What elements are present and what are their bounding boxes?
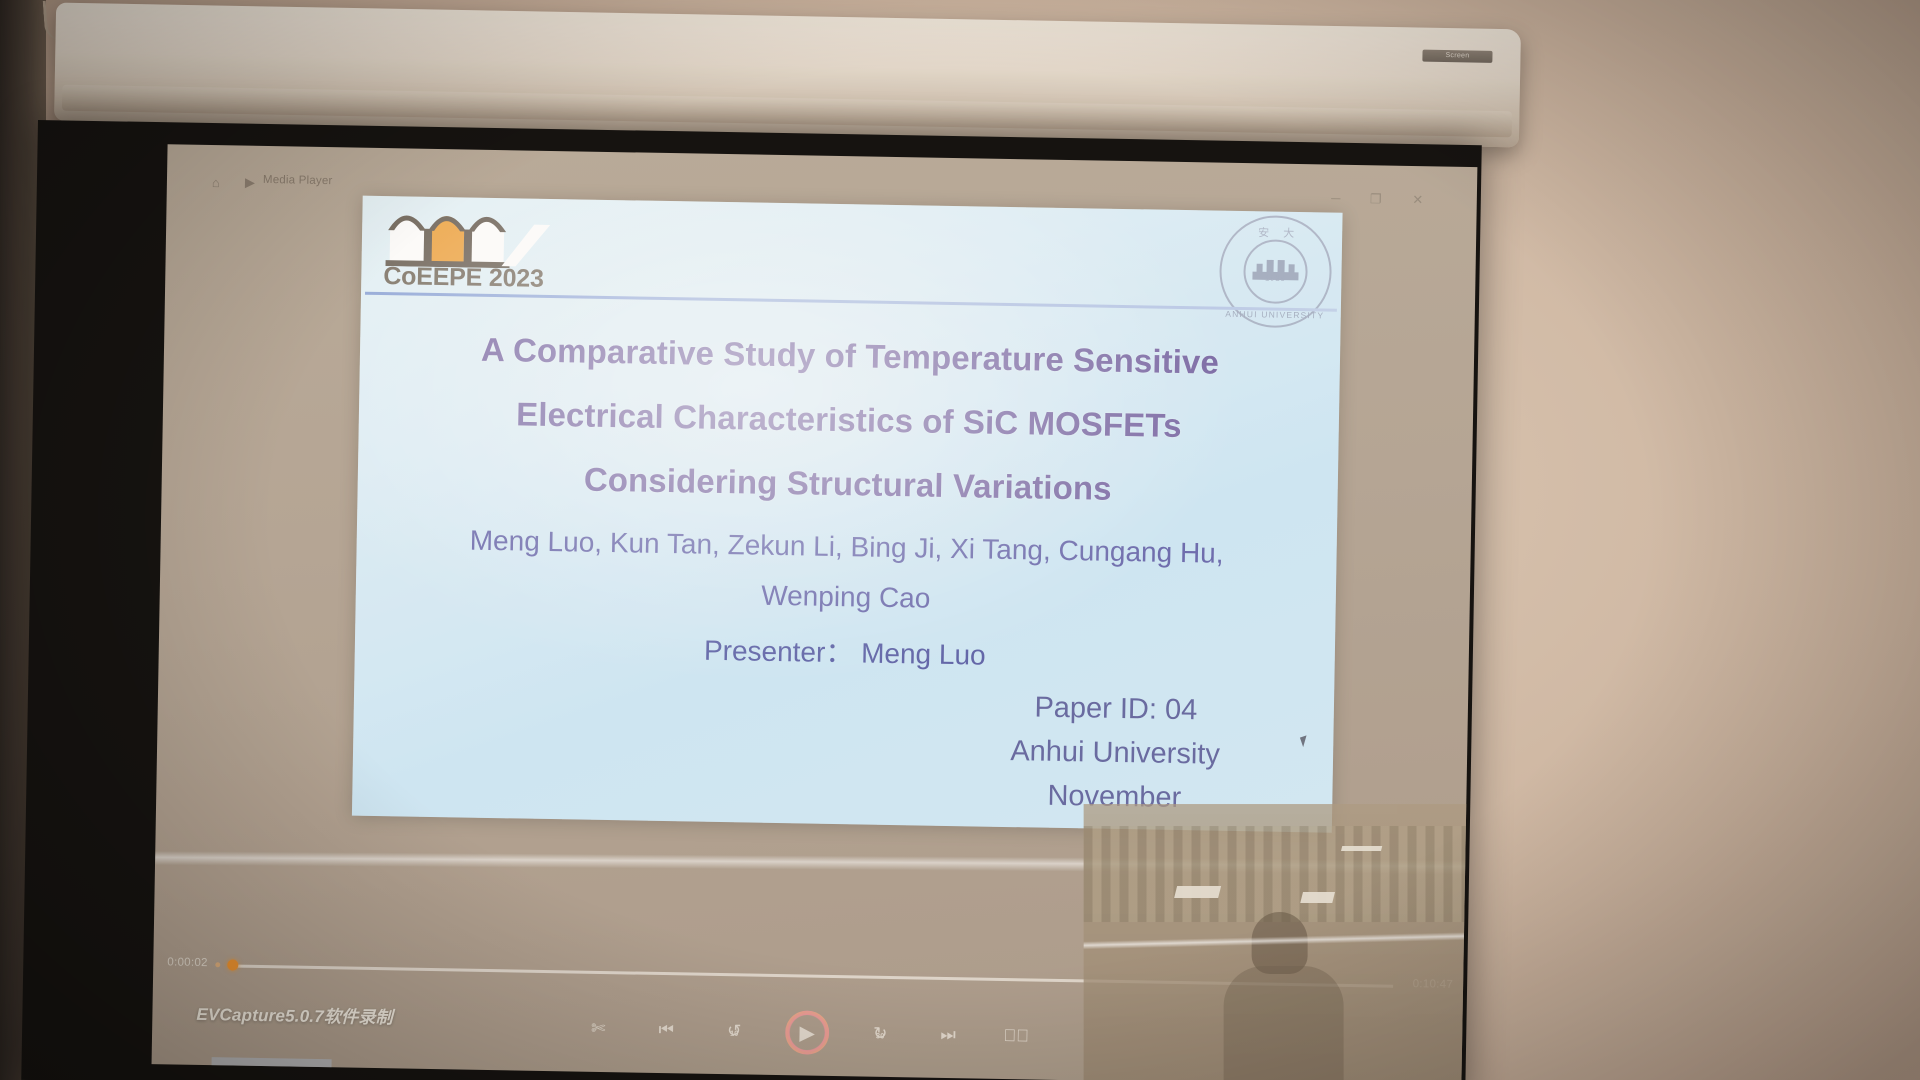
- presentation-slide: CoEEPE 2023 安大 1928 ANHUI UNIVERSITY A C…: [352, 196, 1343, 833]
- rewind-10-icon[interactable]: ↺10: [717, 1014, 752, 1049]
- footer-affiliation: Anhui University: [905, 727, 1326, 778]
- overlay-blinds: [1084, 826, 1478, 922]
- slide-title: A Comparative Study of Temperature Sensi…: [397, 316, 1300, 524]
- forward-amount: 30: [876, 1031, 884, 1040]
- screen-recorder-watermark: EVCapture5.0.7软件录制: [196, 1000, 393, 1028]
- overlay-paper: [1341, 846, 1382, 851]
- overlay-person-body: [1224, 966, 1344, 1080]
- webcam-overlay[interactable]: ⛶ ☷ ⬌ 🔊: [1084, 804, 1478, 1080]
- next-icon[interactable]: ⏭: [931, 1018, 966, 1053]
- header-divider: [365, 292, 1337, 312]
- roller-brand-badge: Screen: [1422, 50, 1492, 63]
- maximize-button[interactable]: ❐: [1361, 189, 1391, 210]
- slide-authors: Meng Luo, Kun Tan, Zekun Li, Bing Ji, Xi…: [384, 514, 1307, 688]
- previous-icon[interactable]: ⏮: [649, 1013, 684, 1048]
- arches-logo-icon: [384, 204, 555, 269]
- overlay-paper: [1300, 892, 1335, 903]
- media-player-window: ⌂ ▶ Media Player ─ ❐ ✕: [152, 144, 1478, 1080]
- anhui-university-seal: 安大 1928 ANHUI UNIVERSITY: [1219, 215, 1333, 329]
- overlay-paper: [1174, 886, 1221, 898]
- home-icon[interactable]: ⌂: [205, 171, 227, 193]
- footer-paper-id: Paper ID: 04: [906, 683, 1327, 734]
- rewind-amount: 10: [730, 1029, 738, 1038]
- close-button[interactable]: ✕: [1403, 190, 1433, 211]
- repeat-off-icon[interactable]: ↻⃠: [999, 1019, 1034, 1054]
- projection-screen-frame: ⌂ ▶ Media Player ─ ❐ ✕: [21, 120, 1482, 1080]
- slide-footer: Paper ID: 04 Anhui University November: [904, 683, 1326, 822]
- taskbar-sliver: [211, 1057, 331, 1075]
- logo-text: CoEEPE 2023: [383, 262, 544, 294]
- trim-icon[interactable]: ✄: [581, 1012, 616, 1047]
- coeepe-logo: CoEEPE 2023: [375, 202, 677, 299]
- play-icon[interactable]: ▶: [239, 172, 261, 194]
- elapsed-time-label: 0:00:02: [167, 956, 208, 969]
- seek-thumb[interactable]: [227, 959, 238, 970]
- minimize-button[interactable]: ─: [1321, 188, 1351, 209]
- seek-secondary-dot: [215, 962, 220, 967]
- seal-year: 1928: [1221, 273, 1329, 284]
- forward-30-icon[interactable]: ↻30: [863, 1017, 898, 1052]
- play-icon[interactable]: ▶: [785, 1010, 830, 1055]
- presenter-line: Presenter： Meng Luo: [384, 618, 1305, 688]
- app-title-label: Media Player: [263, 174, 333, 187]
